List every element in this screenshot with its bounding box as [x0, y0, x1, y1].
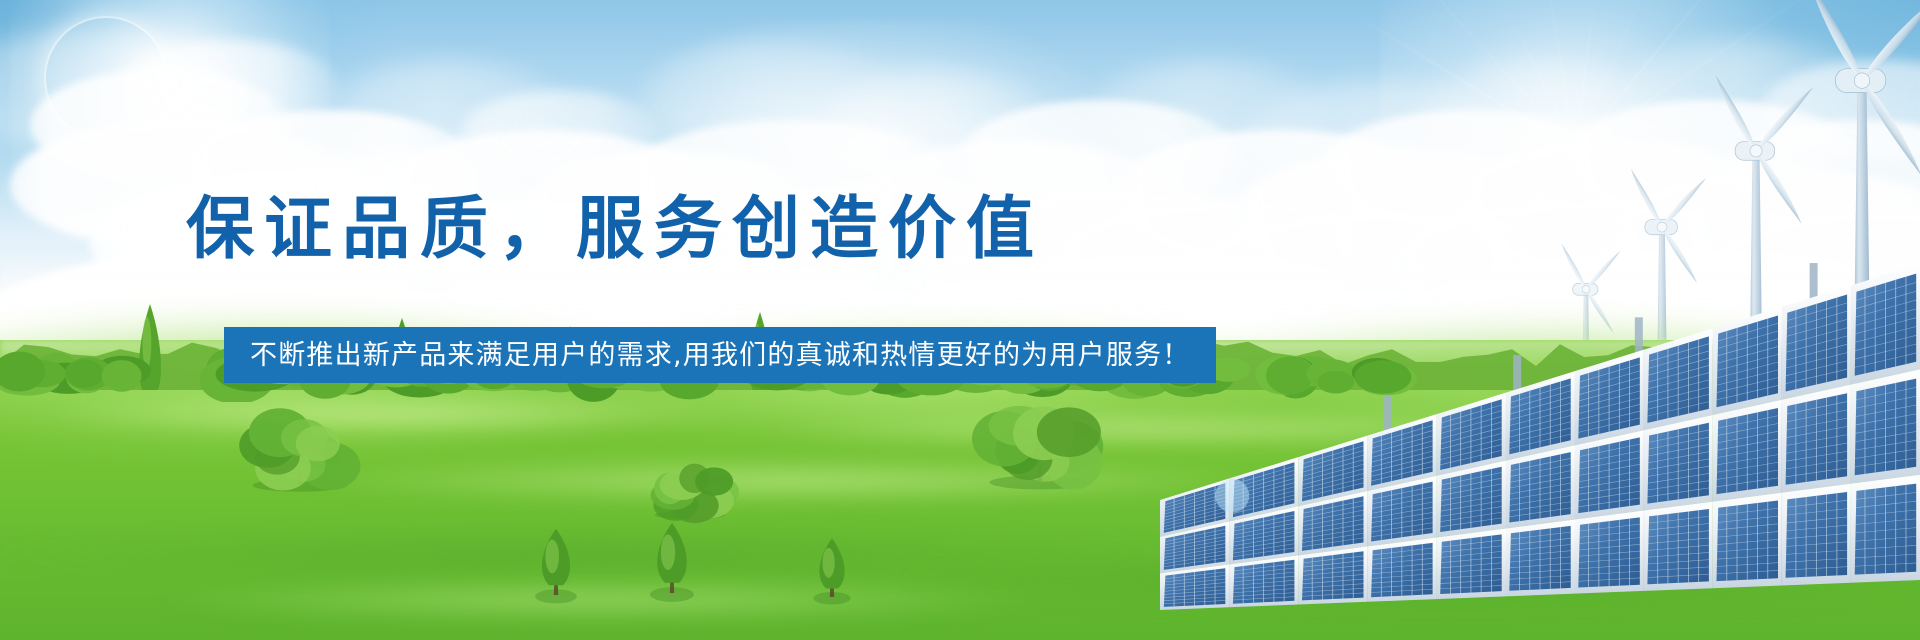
cypress-highlight: [142, 317, 151, 369]
subtitle-text: 不断推出新产品来满足用户的需求,用我们的真诚和热情更好的为用户服务！: [250, 342, 1190, 369]
bush-clump: [66, 360, 104, 388]
bush-clump: [1355, 360, 1412, 393]
bush-clump: [102, 360, 142, 392]
subtitle-bar: 不断推出新产品来满足用户的需求,用我们的真诚和热情更好的为用户服务！: [224, 327, 1216, 383]
grass-highlight-2: [300, 458, 1280, 504]
hero-banner: 保证品质，服务创造价值 不断推出新产品来满足用户的需求,用我们的真诚和热情更好的…: [0, 0, 1920, 640]
grass-highlight-4: [150, 578, 1050, 622]
grass-highlight-3: [760, 410, 1580, 448]
page-title: 保证品质，服务创造价值: [0, 196, 1230, 264]
bush-clump: [1318, 371, 1354, 394]
